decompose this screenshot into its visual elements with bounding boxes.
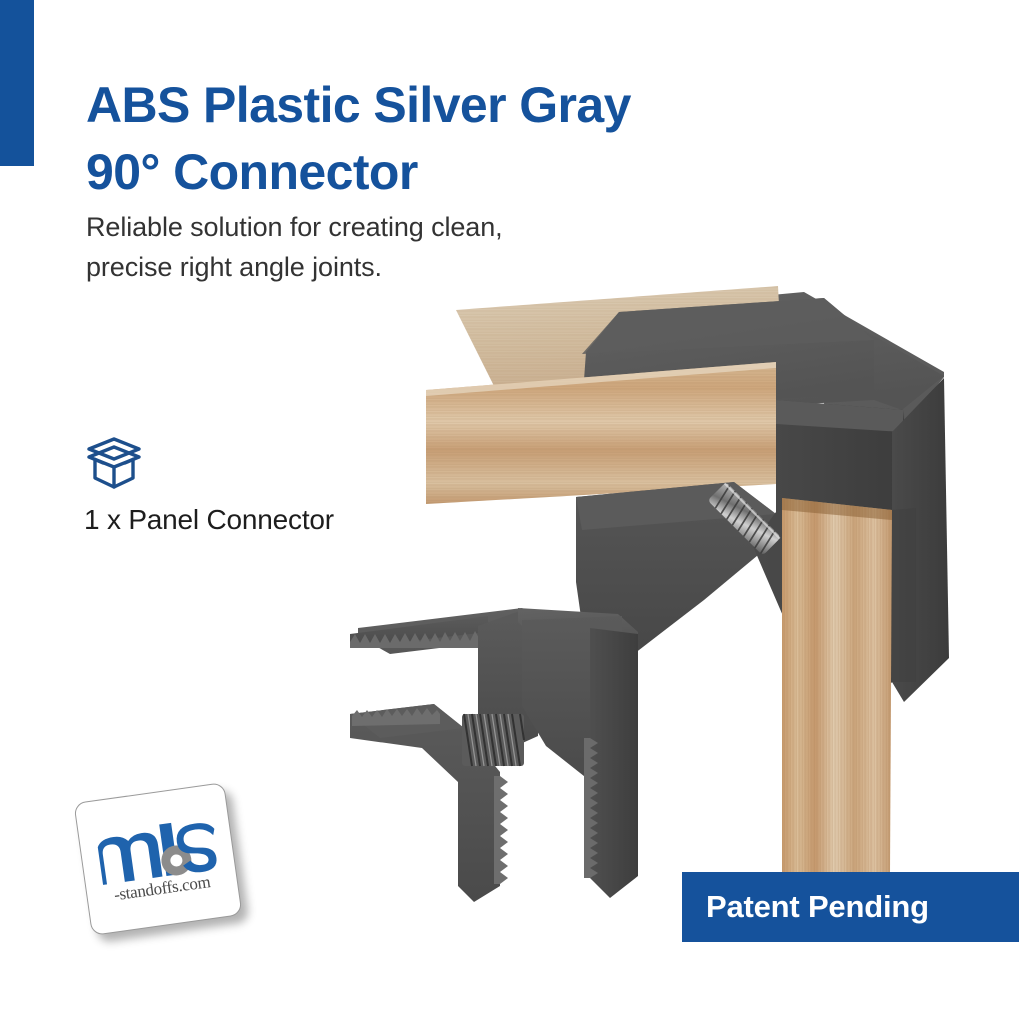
lower-arm-descending-teeth [494,776,508,884]
accent-bar [0,0,34,166]
corner-screw [462,714,524,766]
included-item-label: 1 x Panel Connector [84,504,334,536]
product-marketing-image: ABS Plastic Silver Gray 90° Connector Re… [0,0,1024,1024]
page-subtitle: Reliable solution for creating clean, pr… [86,208,646,288]
brand-logo: -standoffs.com [73,782,242,936]
standalone-bracket-render [322,586,674,908]
lower-arm-teeth [352,708,440,726]
page-title: ABS Plastic Silver Gray 90° Connector [86,72,746,206]
patent-pending-banner: Patent Pending [682,872,1019,942]
patent-pending-label: Patent Pending [682,889,929,925]
open-box-icon [83,436,145,492]
logo-content: -standoffs.com [73,782,242,936]
